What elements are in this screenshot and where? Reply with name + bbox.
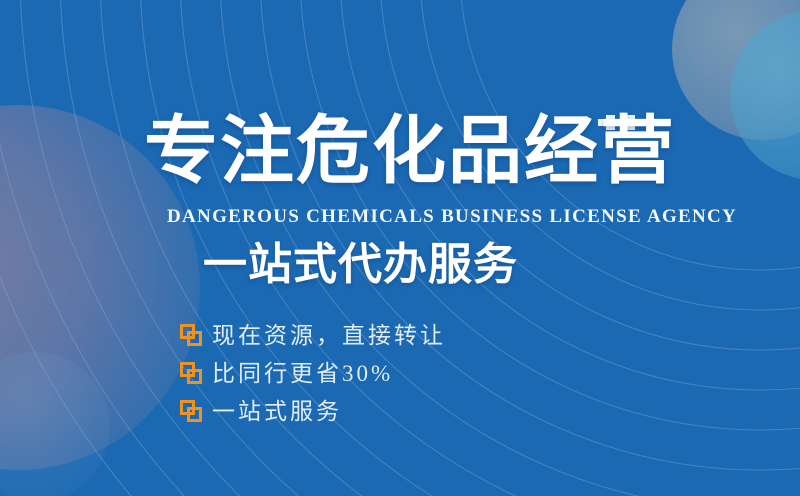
list-item-label: 比同行更省30% [212,362,393,385]
overlapping-squares-icon [180,324,202,346]
list-item-label: 现在资源，直接转让 [212,324,446,347]
list-item: 比同行更省30% [180,354,446,392]
page-title: 专注危化品经营 [144,114,676,188]
promo-banner: 专注危化品经营 DANGEROUS CHEMICALS BUSINESS LIC… [0,0,800,496]
subtitle-english: DANGEROUS CHEMICALS BUSINESS LICENSE AGE… [167,207,737,226]
overlapping-squares-icon [180,400,202,422]
banner-content: 专注危化品经营 DANGEROUS CHEMICALS BUSINESS LIC… [0,0,800,496]
overlapping-squares-icon [180,362,202,384]
list-item-label: 一站式服务 [212,400,342,423]
subtitle-chinese: 一站式代办服务 [203,243,518,287]
list-item: 一站式服务 [180,392,446,430]
feature-list: 现在资源，直接转让 比同行更省30% 一站式服务 [180,316,446,430]
list-item: 现在资源，直接转让 [180,316,446,354]
